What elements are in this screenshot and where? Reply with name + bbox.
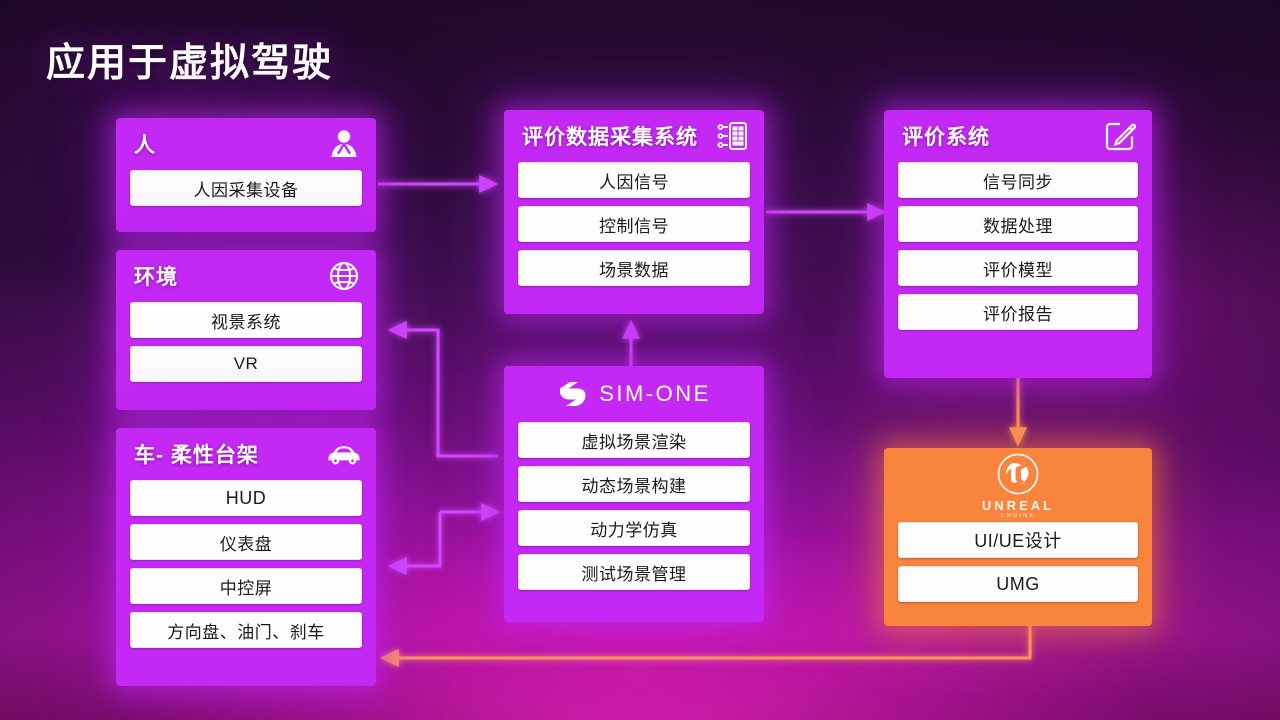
row-vehicle-3[interactable]: 方向盘、油门、刹车 <box>130 612 362 648</box>
row-simone-2[interactable]: 动力学仿真 <box>518 510 750 546</box>
row-simone-0[interactable]: 虚拟场景渲染 <box>518 422 750 458</box>
panel-person-title: 人 <box>134 129 156 159</box>
row-unreal-1[interactable]: UMG <box>898 566 1138 602</box>
row-evaluation-3[interactable]: 评价报告 <box>898 294 1138 330</box>
panel-person-rows: 人因采集设备 <box>116 170 376 219</box>
row-collection-2[interactable]: 场景数据 <box>518 250 750 286</box>
panel-unreal-title: UNREAL <box>982 498 1054 513</box>
panel-person-header: 人 <box>116 118 376 170</box>
panel-vehicle-title: 车- 柔性台架 <box>134 439 259 469</box>
person-icon <box>326 126 362 162</box>
slide-canvas: 应用于虚拟驾驶 <box>0 0 1280 720</box>
car-icon <box>326 436 362 472</box>
panel-vehicle-rows: HUD 仪表盘 中控屏 方向盘、油门、刹车 <box>116 480 376 661</box>
panel-vehicle-header: 车- 柔性台架 <box>116 428 376 480</box>
page-title: 应用于虚拟驾驶 <box>46 32 333 88</box>
row-vehicle-1[interactable]: 仪表盘 <box>130 524 362 560</box>
row-evaluation-1[interactable]: 数据处理 <box>898 206 1138 242</box>
panel-simone-rows: 虚拟场景渲染 动态场景构建 动力学仿真 测试场景管理 <box>504 422 764 603</box>
panel-environment-title: 环境 <box>134 261 178 291</box>
panel-environment-rows: 视景系统 VR <box>116 302 376 395</box>
panel-environment[interactable]: 环境 视景系统 VR <box>116 250 376 410</box>
unreal-engine-logo <box>995 451 1041 497</box>
row-environment-0[interactable]: 视景系统 <box>130 302 362 338</box>
panel-unreal-subtitle: ENGINE <box>1000 513 1035 519</box>
panel-evaluation-title: 评价系统 <box>902 121 990 151</box>
row-simone-1[interactable]: 动态场景构建 <box>518 466 750 502</box>
panel-evaluation-header: 评价系统 <box>884 110 1152 162</box>
row-vehicle-2[interactable]: 中控屏 <box>130 568 362 604</box>
row-collection-0[interactable]: 人因信号 <box>518 162 750 198</box>
panel-evaluation[interactable]: 评价系统 信号同步 数据处理 评价模型 评价报告 <box>884 110 1152 378</box>
row-person-0[interactable]: 人因采集设备 <box>130 170 362 206</box>
row-unreal-0[interactable]: UI/UE设计 <box>898 522 1138 558</box>
row-collection-1[interactable]: 控制信号 <box>518 206 750 242</box>
row-evaluation-2[interactable]: 评价模型 <box>898 250 1138 286</box>
globe-icon <box>326 258 362 294</box>
panel-simone-header: SIM-ONE <box>504 366 764 422</box>
panel-collection-title: 评价数据采集系统 <box>522 121 698 151</box>
data-device-icon <box>714 118 750 154</box>
panel-simone-title: SIM-ONE <box>599 381 711 407</box>
row-simone-3[interactable]: 测试场景管理 <box>518 554 750 590</box>
row-vehicle-0[interactable]: HUD <box>130 480 362 516</box>
panel-evaluation-rows: 信号同步 数据处理 评价模型 评价报告 <box>884 162 1152 343</box>
panel-collection[interactable]: 评价数据采集系统 人因信号 控制信 <box>504 110 764 314</box>
panel-unreal-header: UNREAL ENGINE <box>884 448 1152 522</box>
panel-collection-header: 评价数据采集系统 <box>504 110 764 162</box>
row-evaluation-0[interactable]: 信号同步 <box>898 162 1138 198</box>
panel-collection-rows: 人因信号 控制信号 场景数据 <box>504 162 764 299</box>
panel-unreal-rows: UI/UE设计 UMG <box>884 522 1152 615</box>
panel-simone[interactable]: SIM-ONE 虚拟场景渲染 动态场景构建 动力学仿真 测试场景管理 <box>504 366 764 622</box>
sim-one-logo <box>557 378 589 410</box>
panel-vehicle[interactable]: 车- 柔性台架 HUD 仪表盘 中控屏 方向盘、油门、刹车 <box>116 428 376 686</box>
edit-pencil-icon <box>1102 118 1138 154</box>
panel-unreal[interactable]: UNREAL ENGINE UI/UE设计 UMG <box>884 448 1152 626</box>
row-environment-1[interactable]: VR <box>130 346 362 382</box>
panel-person[interactable]: 人 人因采集设备 <box>116 118 376 232</box>
panel-environment-header: 环境 <box>116 250 376 302</box>
